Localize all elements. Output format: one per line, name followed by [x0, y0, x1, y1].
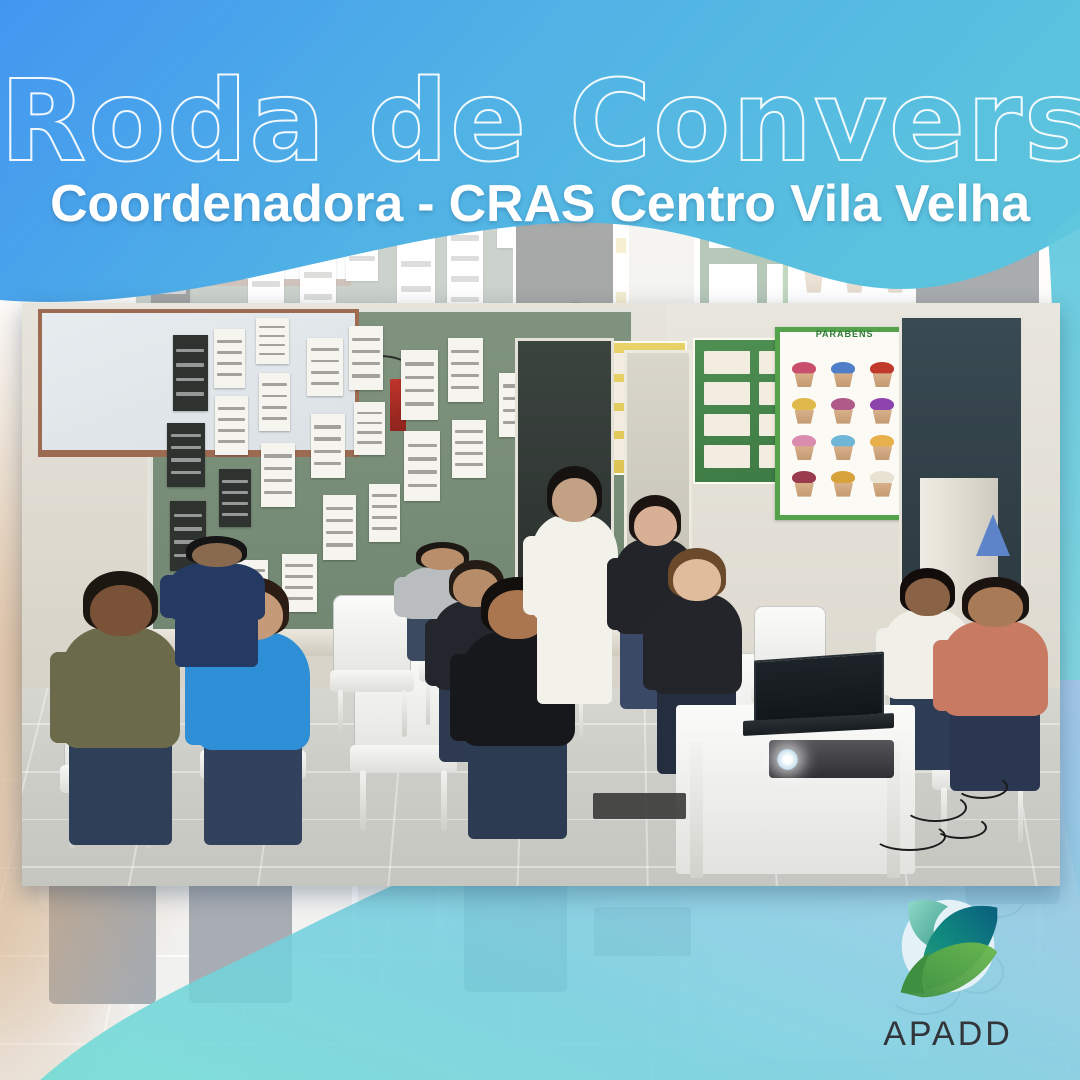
cupcake-illustration	[790, 435, 819, 461]
cupcake-illustration	[829, 471, 858, 497]
seated-person	[162, 536, 271, 664]
wall-poster	[354, 402, 385, 454]
cupcake-illustration	[790, 398, 819, 424]
laptop-screen	[754, 651, 884, 724]
wall-poster	[214, 329, 245, 387]
power-cable	[873, 822, 946, 851]
wall-poster	[307, 338, 342, 396]
projector-lens	[777, 749, 798, 770]
cupcake-illustration	[829, 435, 858, 461]
seated-person	[935, 577, 1054, 787]
wall-poster	[323, 495, 356, 559]
wall-poster	[349, 326, 383, 390]
wall-poster	[215, 396, 248, 454]
wall-poster	[401, 350, 438, 420]
cupcake-illustration	[868, 362, 897, 388]
cupcake-illustration	[868, 398, 897, 424]
wall-poster	[259, 373, 290, 431]
party-hat	[976, 514, 1010, 556]
social-media-poster: PARABENS	[0, 0, 1080, 1080]
wall-poster	[404, 431, 440, 501]
apadd-wordmark: APADD	[862, 1015, 1034, 1054]
wall-poster	[369, 484, 400, 542]
page-title: Roda de Conversa	[0, 66, 1080, 178]
title-block: Roda de Conversa Coordenadora - CRAS Cen…	[0, 66, 1080, 234]
apadd-leaf-icon	[879, 881, 1017, 1019]
cupcake-illustration	[829, 362, 858, 388]
wall-poster	[256, 318, 289, 365]
wall-poster	[448, 338, 483, 402]
cupcake-illustration	[790, 471, 819, 497]
apadd-logo: APADD	[862, 881, 1034, 1054]
cupcake-illustration	[790, 362, 819, 388]
cupcake-illustration	[868, 435, 897, 461]
projector	[769, 740, 894, 778]
wall-poster	[167, 423, 204, 487]
floor-mat	[593, 793, 686, 819]
parabens-poster: PARABENS	[775, 327, 915, 519]
power-cable	[956, 775, 1008, 798]
page-subtitle: Coordenadora - CRAS Centro Vila Velha	[0, 174, 1080, 234]
cupcake-illustration	[868, 471, 897, 497]
event-photo: PARABENS	[22, 303, 1060, 886]
wall-poster	[219, 469, 251, 527]
cupcake-illustration	[829, 398, 858, 424]
wall-poster	[261, 443, 295, 507]
wall-poster	[311, 414, 345, 478]
wall-poster	[173, 335, 208, 411]
wall-poster	[452, 420, 486, 478]
